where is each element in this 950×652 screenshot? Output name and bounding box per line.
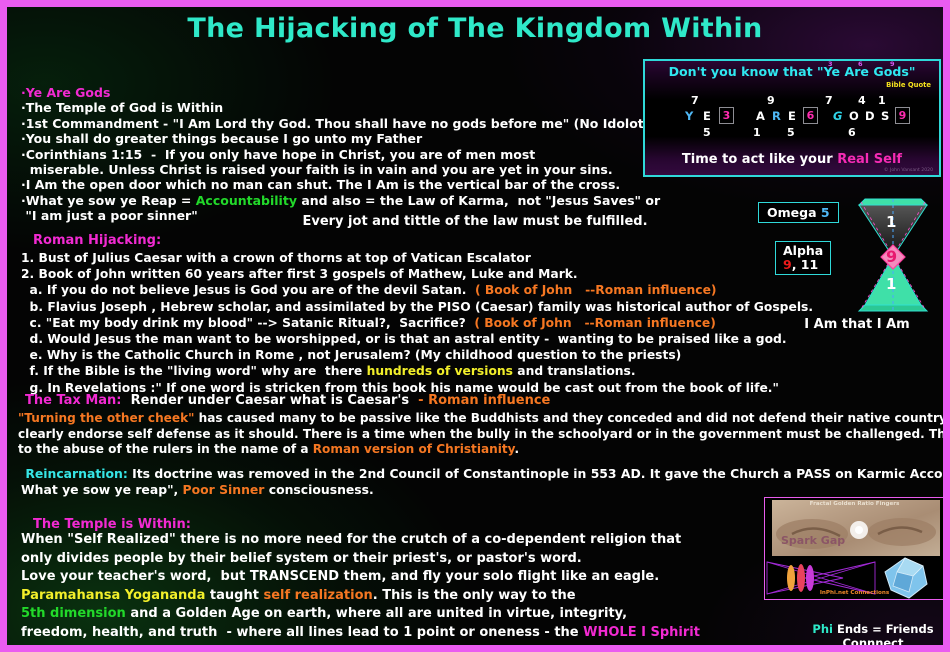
hourglass-top-one: 1 bbox=[886, 213, 896, 231]
text-run: and translations. bbox=[513, 364, 636, 378]
text-run: Love your teacher's word, but TRANSCEND … bbox=[21, 569, 659, 584]
bullet-line-0: ·Ye Are Gods bbox=[21, 85, 732, 100]
roman-item-line-3: b. Flavius Joseph , Hebrew scholar, and … bbox=[21, 299, 813, 315]
letter-G: G bbox=[833, 109, 842, 123]
letter-R: R bbox=[772, 109, 781, 123]
text-run: to the abuse of the rulers in the name o… bbox=[18, 442, 313, 456]
letter-Y: Y bbox=[685, 109, 693, 123]
text-run: c. "Eat my body drink my blood" --> Sata… bbox=[21, 316, 474, 330]
tax-man-line-0: The Tax Man: Render under Caesar what is… bbox=[25, 393, 550, 408]
letter-E: E bbox=[703, 109, 711, 123]
boxed-number-9: 9 bbox=[895, 107, 910, 124]
text-run: d. Would Jesus the man want to be worshi… bbox=[21, 332, 787, 346]
text-run: When "Self Realized" there is no more ne… bbox=[21, 532, 681, 547]
infinet-connections-label: InPhi.net Connections bbox=[765, 590, 944, 596]
bottom-number-3: 6 bbox=[848, 126, 856, 139]
text-run: clearly endorse self defense as it shoul… bbox=[18, 427, 950, 441]
hourglass-center-nine: 9 bbox=[886, 247, 897, 266]
footer-plain: Time to act like your bbox=[682, 152, 837, 167]
omega-box: Omega 5 bbox=[758, 202, 839, 223]
phi-ends-caption: Phi Ends = Friends Connnect bbox=[793, 622, 950, 650]
letter-S: S bbox=[881, 109, 889, 123]
text-run: b. Flavius Joseph , Hebrew scholar, and … bbox=[21, 300, 813, 314]
roman-item-line-7: f. If the Bible is the "living word" why… bbox=[21, 363, 813, 379]
reincarnation-paragraph: Reincarnation: Its doctrine was removed … bbox=[21, 466, 950, 499]
letter-D: D bbox=[865, 109, 875, 123]
text-run: freedom, health, and truth - where all l… bbox=[21, 625, 583, 640]
roman-hijacking-label: Roman Hijacking: bbox=[33, 233, 161, 248]
text-run: Its doctrine was removed in the 2nd Coun… bbox=[128, 466, 950, 481]
text-run: self realization bbox=[263, 588, 372, 603]
roman-item-line-0: 1. Bust of Julius Caesar with a crown of… bbox=[21, 250, 813, 266]
turning-other-cheek-paragraph: "Turning the other cheek" has caused man… bbox=[18, 411, 950, 458]
text-run: Napolean Hill bbox=[21, 644, 119, 652]
bullet-line-7: ·What ye sow ye Reap = Accountability an… bbox=[21, 193, 732, 208]
bottom-number-1: 1 bbox=[753, 126, 761, 139]
text-run: has caused many to be passive like the B… bbox=[194, 411, 950, 425]
bible-quote-label: Bible Quote bbox=[886, 81, 931, 89]
text-run: and a Golden Age on earth, where all are… bbox=[126, 606, 627, 621]
footer-accent: Real Self bbox=[837, 152, 902, 167]
slide-canvas: The Hijacking of The Kingdom Within ·Ye … bbox=[0, 0, 950, 652]
bullet-line-2: ·1st Commandment - "I Am Lord thy God. T… bbox=[21, 116, 732, 131]
roman-hijacking-list: 1. Bust of Julius Caesar with a crown of… bbox=[21, 250, 813, 396]
text-run: e. Why is the Catholic Church in Rome , … bbox=[21, 348, 681, 362]
text-run: . bbox=[514, 442, 519, 456]
text-run: 2. Book of John written 60 years after f… bbox=[21, 267, 578, 281]
roman-hijacking-heading: Roman Hijacking: bbox=[33, 233, 161, 249]
bullet-line-4: ·Corinthians 1:15 - If you only have hop… bbox=[21, 147, 732, 162]
bullet-line-1: ·The Temple of God is Within bbox=[21, 100, 732, 115]
page-title: The Hijacking of The Kingdom Within bbox=[7, 13, 943, 44]
text-run: hundreds of versions bbox=[367, 364, 513, 378]
letter-O: O bbox=[849, 109, 859, 123]
reincarnation-line-0: Reincarnation: Its doctrine was removed … bbox=[21, 466, 950, 482]
hands-illustration bbox=[772, 500, 942, 556]
text-run: 1. Bust of Julius Caesar with a crown of… bbox=[21, 251, 531, 265]
i-am-that-i-am-caption: I Am that I Am bbox=[767, 317, 947, 332]
alpha-value-rest: , 11 bbox=[792, 257, 819, 272]
text-run: Render under Caesar what is Caesar's bbox=[122, 393, 414, 408]
text-run: taught the principles of Positive Mental… bbox=[119, 644, 718, 652]
bullet-line-5: miserable. Unless Christ is raised your … bbox=[21, 162, 732, 177]
copyright-text: © John Vansant 2020 bbox=[884, 168, 933, 173]
roman-item-line-4: c. "Eat my body drink my blood" --> Sata… bbox=[21, 315, 813, 331]
text-run: miserable. Unless Christ is raised your … bbox=[21, 162, 613, 177]
text-run: ( Book of John --Roman influence) bbox=[474, 316, 716, 330]
alpha-value-red: 9 bbox=[783, 257, 792, 272]
phi-connect-line: Connnect bbox=[842, 636, 903, 650]
text-run: . This is the only way to the bbox=[373, 588, 576, 603]
ye-are-gods-footer: Time to act like your Real Self bbox=[645, 152, 939, 167]
text-run: ·Corinthians 1:15 - If you only have hop… bbox=[21, 147, 535, 162]
bullet-list: ·Ye Are Gods·The Temple of God is Within… bbox=[21, 85, 732, 224]
omega-label: Omega bbox=[767, 205, 817, 220]
alpha-box: Alpha 9, 11 bbox=[775, 241, 831, 275]
text-run: taught bbox=[205, 588, 263, 603]
top-number-3: 4 bbox=[858, 94, 866, 107]
alpha-values: 9, 11 bbox=[783, 258, 823, 272]
hourglass-bottom-one: 1 bbox=[886, 275, 896, 293]
bottom-number-2: 5 bbox=[787, 126, 795, 139]
text-run: Poor Sinner bbox=[183, 482, 265, 497]
spark-gap-panel: Fractal Golden Ratio Fingers Spark Gap I… bbox=[764, 497, 945, 600]
hourglass-graphic: 1 9 1 bbox=[845, 197, 941, 317]
omega-value: 5 bbox=[821, 205, 830, 220]
roman-item-line-6: e. Why is the Catholic Church in Rome , … bbox=[21, 347, 813, 363]
text-run: What ye sow ye reap", bbox=[21, 482, 183, 497]
roman-item-line-1: 2. Book of John written 60 years after f… bbox=[21, 266, 813, 282]
temple-is-within-label: The Temple is Within: bbox=[33, 517, 191, 532]
text-run: ·You shall do greater things because I g… bbox=[21, 131, 422, 146]
turning-line-2: to the abuse of the rulers in the name o… bbox=[18, 442, 950, 458]
bullet-line-6: ·I Am the open door which no man can shu… bbox=[21, 177, 732, 192]
text-run: Accountability bbox=[196, 193, 297, 208]
tax-man-line: The Tax Man: Render under Caesar what is… bbox=[25, 393, 550, 408]
text-run: f. If the Bible is the "living word" why… bbox=[21, 364, 367, 378]
text-run: The Tax Man: bbox=[25, 393, 122, 408]
text-run: - Roman influence bbox=[414, 393, 551, 408]
text-run: ·1st Commandment - "I Am Lord thy God. T… bbox=[21, 116, 732, 131]
text-run: ·I Am the open door which no man can shu… bbox=[21, 177, 620, 192]
top-number-0: 7 bbox=[691, 94, 699, 107]
text-run: "Turning the other cheek" bbox=[18, 411, 194, 425]
boxed-number-3: 3 bbox=[719, 107, 734, 124]
letter-E2: E bbox=[788, 109, 796, 123]
text-run: ·Ye Are Gods bbox=[21, 85, 110, 100]
spark-gap-label: Spark Gap bbox=[781, 534, 845, 547]
bottom-number-0: 5 bbox=[703, 126, 711, 139]
text-run: Reincarnation: bbox=[21, 466, 128, 481]
phi-word: Phi bbox=[812, 622, 833, 636]
top-number-4: 1 bbox=[878, 94, 886, 107]
text-run: only divides people by their belief syst… bbox=[21, 551, 582, 566]
roman-item-line-2: a. If you do not believe Jesus is God yo… bbox=[21, 282, 813, 298]
text-run: WHOLE I Sphirit bbox=[583, 625, 700, 640]
top-number-2: 7 bbox=[825, 94, 833, 107]
text-run: ·The Temple of God is Within bbox=[21, 100, 223, 115]
superscript-6: 6 bbox=[858, 60, 863, 68]
bullet-line-3: ·You shall do greater things because I g… bbox=[21, 131, 732, 146]
letter-A: A bbox=[756, 109, 765, 123]
fractal-golden-ratio-label: Fractal Golden Ratio Fingers bbox=[765, 501, 944, 507]
text-run: ( Book of John --Roman influence) bbox=[475, 283, 717, 297]
text-run: Paramahansa Yogananda bbox=[21, 588, 205, 603]
top-number-1: 9 bbox=[767, 94, 775, 107]
text-run: consciousness. bbox=[264, 482, 373, 497]
text-run: Roman version of Christianity bbox=[313, 442, 515, 456]
alpha-label: Alpha bbox=[783, 244, 823, 258]
text-run: a. If you do not believe Jesus is God yo… bbox=[21, 283, 475, 297]
superscript-9: 9 bbox=[890, 60, 895, 68]
text-run: and also = the Law of Karma, not "Jesus … bbox=[297, 193, 660, 208]
turning-line-0: "Turning the other cheek" has caused man… bbox=[18, 411, 950, 427]
boxed-number-6: 6 bbox=[803, 107, 818, 124]
temple-is-within-heading: The Temple is Within: bbox=[33, 517, 191, 532]
superscript-3: 3 bbox=[828, 60, 833, 68]
phi-ends-rest: Ends = Friends bbox=[833, 622, 934, 636]
text-run: ·What ye sow ye Reap = bbox=[21, 193, 196, 208]
ye-are-gods-panel: Don't you know that "Ye Are Gods" 3 6 9 … bbox=[643, 59, 941, 177]
text-run: 5th dimension bbox=[21, 606, 126, 621]
turning-line-1: clearly endorse self defense as it shoul… bbox=[18, 427, 950, 443]
roman-item-line-5: d. Would Jesus the man want to be worshi… bbox=[21, 331, 813, 347]
